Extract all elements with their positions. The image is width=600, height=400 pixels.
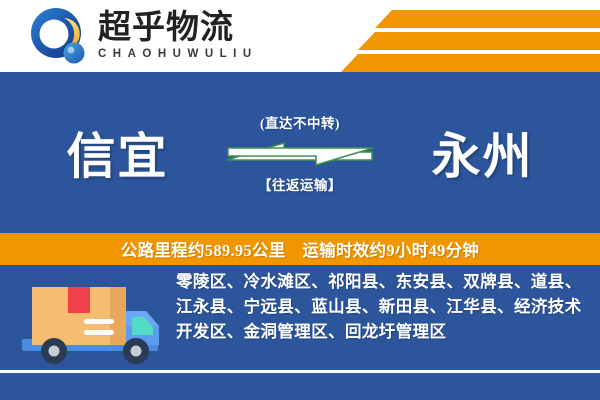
brand-text-block: 超乎物流 CHAOHUWULIU xyxy=(98,12,258,61)
round-trip-note: 【往返运输】 xyxy=(258,174,342,194)
destination-city: 永州 xyxy=(380,117,585,188)
circle-q-logo-icon xyxy=(28,5,90,67)
origin-city: 信宜 xyxy=(15,117,220,188)
route-section: 信宜 (直达不中转) 【往返运输】 永州 xyxy=(0,72,600,233)
district-list: 零陵区、冷水滩区、祁阳县、东安县、双牌县、道县、 江永县、宁远县、蓝山县、新田县… xyxy=(176,269,584,344)
brand-logo-group: 超乎物流 CHAOHUWULIU xyxy=(28,5,258,67)
district-line: 江永县、宁远县、蓝山县、新田县、江华县、经济技术 xyxy=(176,294,584,319)
coverage-section: 零陵区、冷水滩区、祁阳县、东安县、双牌县、道县、 江永县、宁远县、蓝山县、新田县… xyxy=(0,265,600,400)
direct-service-note: (直达不中转) xyxy=(260,112,340,132)
route-arrow-block: (直达不中转) 【往返运输】 xyxy=(220,112,380,194)
logistics-route-banner: 超乎物流 CHAOHUWULIU 信宜 (直达不中转) xyxy=(0,0,600,400)
distance-duration-band: 公路里程约589.95公里 运输时效约9小时49分钟 xyxy=(0,233,600,265)
district-line: 零陵区、冷水滩区、祁阳县、东安县、双牌县、道县、 xyxy=(176,269,584,294)
brand-name-cn: 超乎物流 xyxy=(98,12,258,46)
delivery-truck-icon xyxy=(18,273,168,377)
brand-name-en: CHAOHUWULIU xyxy=(98,48,258,60)
banner-header: 超乎物流 CHAOHUWULIU xyxy=(0,0,600,72)
orange-slanted-stripes-icon xyxy=(330,0,600,72)
route-row: 信宜 (直达不中转) 【往返运输】 永州 xyxy=(0,72,600,233)
distance-duration-text: 公路里程约589.95公里 运输时效约9小时49分钟 xyxy=(121,237,479,261)
bidirectional-arrow-icon xyxy=(224,135,376,171)
bottom-divider xyxy=(0,370,600,373)
district-line: 开发区、金洞管理区、回龙圩管理区 xyxy=(176,319,584,344)
